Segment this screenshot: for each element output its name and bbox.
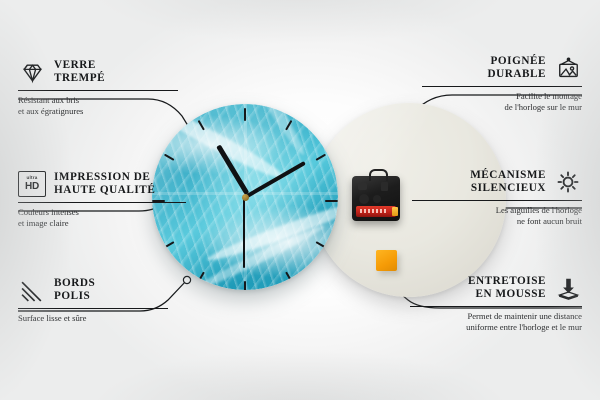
callout-rule xyxy=(410,306,582,307)
callout-rule xyxy=(18,308,168,309)
gear-icon xyxy=(554,168,582,196)
sub-line-1: Couleurs intenses xyxy=(18,207,79,217)
title-line-2: DURABLE xyxy=(487,68,546,80)
hand-hub xyxy=(242,194,249,201)
diagonal-stripes-icon xyxy=(18,276,46,304)
callout-title: ENTRETOISE EN MOUSSE xyxy=(468,275,546,302)
sub-line-2: et aux égratignures xyxy=(18,106,83,116)
callout-title: MÉCANISME SILENCIEUX xyxy=(470,169,546,196)
callout-header: POIGNÉE DURABLE xyxy=(422,54,582,82)
callout-impression-haute-qualite[interactable]: ultra HD IMPRESSION DE HAUTE QUALITÉ Cou… xyxy=(18,170,186,229)
battery xyxy=(356,206,396,217)
sub-line-1: Permet de maintenir une distance xyxy=(467,311,582,321)
callout-header: VERRE TREMPÉ xyxy=(18,58,178,86)
mechanism-detail xyxy=(359,194,369,204)
callout-subtitle: Permet de maintenir une distance uniform… xyxy=(410,311,582,333)
down-arrow-pad-icon xyxy=(554,274,582,302)
title-line-1: MÉCANISME xyxy=(470,169,546,181)
hanger-loop-icon xyxy=(369,169,388,181)
sub-line-2: de l'horloge sur le mur xyxy=(505,102,582,112)
sub-line-1: Résistant aux bris xyxy=(18,95,79,105)
callout-poignee-durable[interactable]: POIGNÉE DURABLE Facilite le montage de l… xyxy=(422,54,582,113)
callout-verre-trempe[interactable]: VERRE TREMPÉ Résistant aux bris et aux é… xyxy=(18,58,178,117)
title-line-1: BORDS xyxy=(54,277,95,289)
callout-header: ENTRETOISE EN MOUSSE xyxy=(410,274,582,302)
hd-badge-large-text: HD xyxy=(25,182,39,192)
second-hand xyxy=(243,196,245,268)
mechanism-detail xyxy=(373,195,381,203)
title-line-1: VERRE xyxy=(54,59,96,71)
callout-header: ultra HD IMPRESSION DE HAUTE QUALITÉ xyxy=(18,170,186,198)
callout-header: MÉCANISME SILENCIEUX xyxy=(412,168,582,196)
foam-spacer xyxy=(376,250,397,271)
callout-subtitle: Couleurs intenses et image claire xyxy=(18,207,186,229)
title-line-2: TREMPÉ xyxy=(54,72,105,84)
sub-line-2: et image claire xyxy=(18,218,69,228)
callout-subtitle: Les aiguilles de l'horloge ne font aucun… xyxy=(412,205,582,227)
sub-line-2: ne font aucun bruit xyxy=(517,216,582,226)
sub-line-1: Facilite le montage xyxy=(516,91,582,101)
callout-subtitle: Facilite le montage de l'horloge sur le … xyxy=(422,91,582,113)
callout-subtitle: Résistant aux bris et aux égratignures xyxy=(18,95,178,117)
clock-mechanism xyxy=(352,176,400,221)
title-line-2: EN MOUSSE xyxy=(475,288,546,300)
title-line-2: SILENCIEUX xyxy=(471,182,546,194)
callout-entretoise-en-mousse[interactable]: ENTRETOISE EN MOUSSE Permet de maintenir… xyxy=(410,274,582,333)
infographic-canvas: VERRE TREMPÉ Résistant aux bris et aux é… xyxy=(0,0,600,400)
callout-rule xyxy=(18,90,178,91)
battery-terminal xyxy=(392,207,398,216)
mechanism-detail xyxy=(358,183,367,190)
hanging-frame-icon xyxy=(554,54,582,82)
callout-rule xyxy=(412,200,582,201)
callout-bords-polis[interactable]: BORDS POLIS Surface lisse et sûre xyxy=(18,276,168,324)
battery-label xyxy=(360,209,386,213)
title-line-1: POIGNÉE xyxy=(491,55,546,67)
sub-line-1: Surface lisse et sûre xyxy=(18,313,87,323)
callout-title: VERRE TREMPÉ xyxy=(54,59,105,86)
callout-title: IMPRESSION DE HAUTE QUALITÉ xyxy=(54,171,155,198)
connector-dot-bords-polis xyxy=(183,276,190,283)
ultra-hd-icon: ultra HD xyxy=(18,170,46,198)
title-line-1: IMPRESSION DE xyxy=(54,171,150,183)
callout-rule xyxy=(422,86,582,87)
hd-badge: ultra HD xyxy=(18,171,46,197)
callout-mecanisme-silencieux[interactable]: MÉCANISME SILENCIEUX Les aiguilles de l'… xyxy=(412,168,582,227)
callout-title: POIGNÉE DURABLE xyxy=(487,55,546,82)
callout-title: BORDS POLIS xyxy=(54,277,95,304)
title-line-2: POLIS xyxy=(54,290,90,302)
sub-line-2: uniforme entre l'horloge et le mur xyxy=(466,322,582,332)
title-line-2: HAUTE QUALITÉ xyxy=(54,184,155,196)
callout-subtitle: Surface lisse et sûre xyxy=(18,313,168,324)
mechanism-detail xyxy=(381,182,388,191)
sub-line-1: Les aiguilles de l'horloge xyxy=(496,205,582,215)
callout-header: BORDS POLIS xyxy=(18,276,168,304)
callout-rule xyxy=(18,202,186,203)
diamond-icon xyxy=(18,58,46,86)
title-line-1: ENTRETOISE xyxy=(468,275,546,287)
